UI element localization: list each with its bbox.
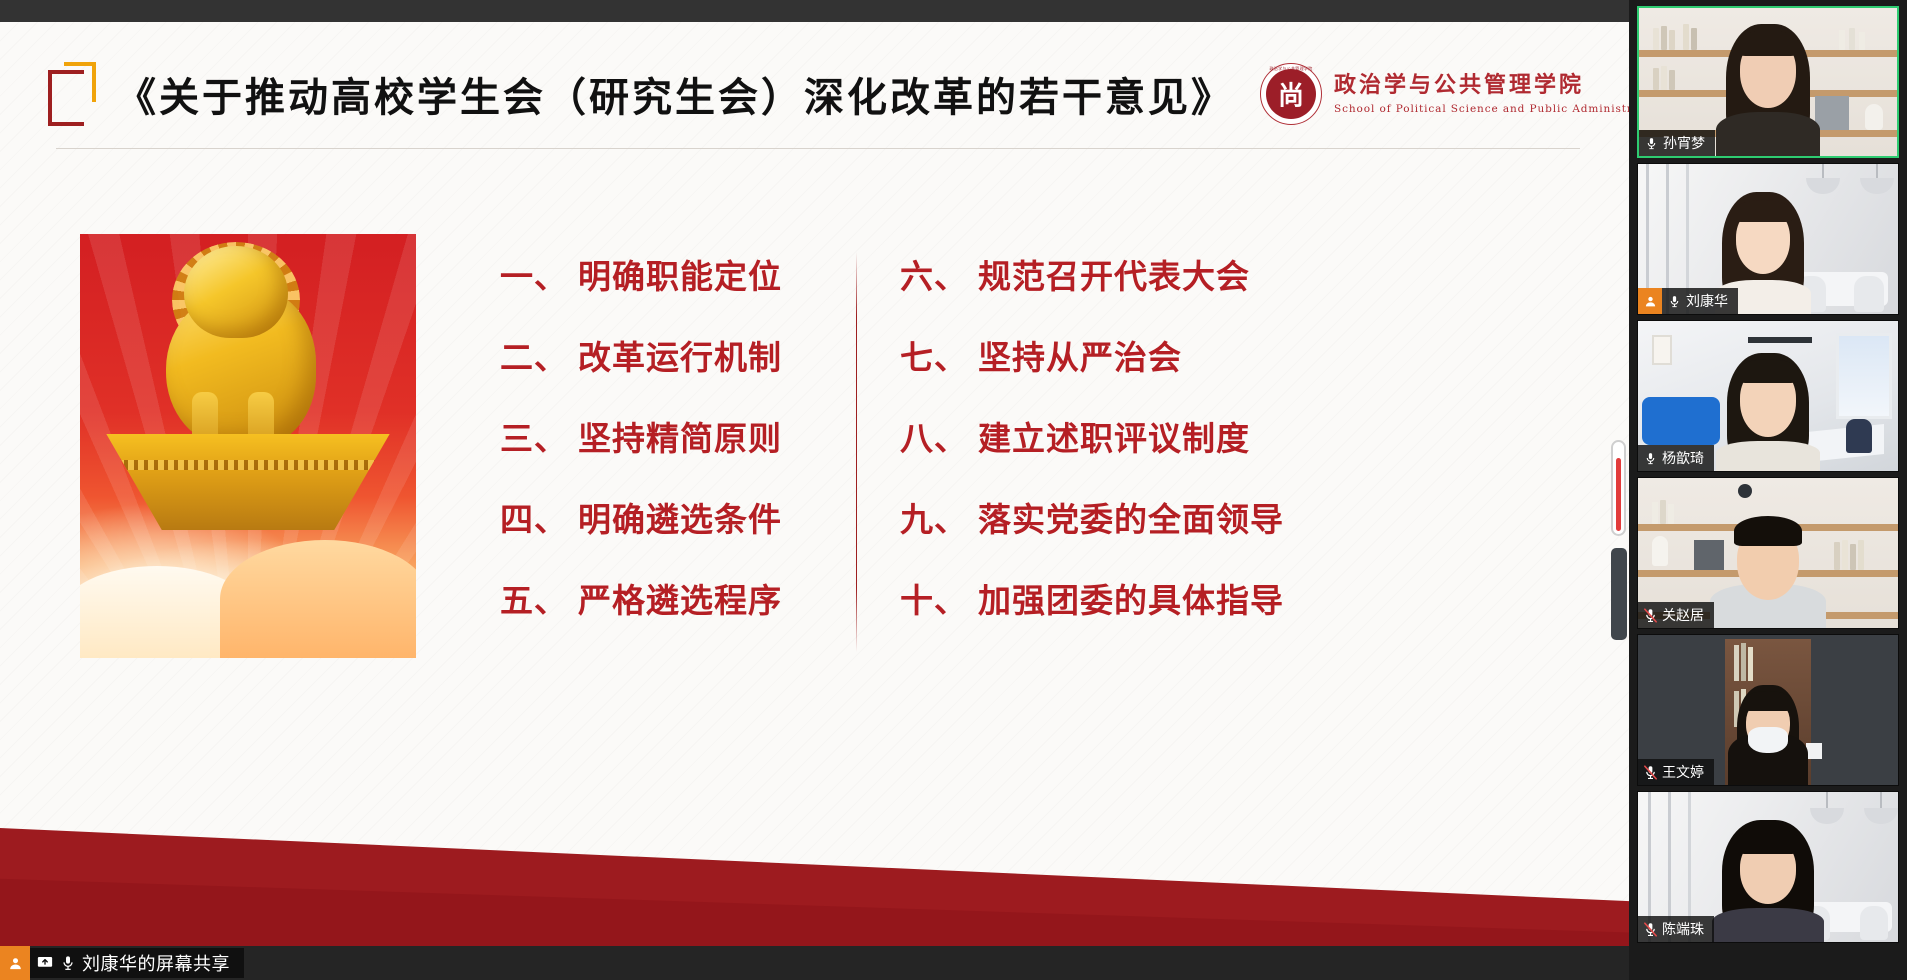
outline-item: 一、 明确职能定位 (500, 236, 830, 317)
participant-tile[interactable]: 杨歆琦 (1637, 320, 1899, 472)
outline-item-text: 明确遴选条件 (578, 479, 782, 560)
person-icon (1638, 288, 1662, 314)
outline-item: 十、 加强团委的具体指导 (900, 560, 1320, 641)
outline-item-number: 四、 (500, 479, 568, 560)
organization-name-en: School of Political Science and Public A… (1334, 103, 1629, 116)
outline-item: 七、 坚持从严治会 (900, 317, 1320, 398)
outline-item-number: 二、 (500, 317, 568, 398)
microphone-icon (60, 954, 76, 972)
shared-screen-area: 《关于推动高校学生会（研究生会）深化改革的若干意见》 政治学与公共管理学院 尚 … (0, 0, 1629, 980)
outline-item-text: 落实党委的全面领导 (978, 479, 1284, 560)
bracket-ornament-icon (48, 62, 100, 126)
share-status-text: 刘康华的屏幕共享 (82, 950, 230, 976)
outline-item-number: 九、 (900, 479, 968, 560)
outline-item-text: 改革运行机制 (578, 317, 782, 398)
participant-name-bar: 刘康华 (1638, 288, 1738, 314)
participant-tile[interactable]: 刘康华 (1637, 163, 1899, 315)
participant-name: 陈端珠 (1662, 919, 1714, 939)
participant-name: 杨歆琦 (1662, 448, 1714, 468)
outline-item-number: 五、 (500, 560, 568, 641)
participant-name-bar: 孙宵梦 (1639, 130, 1715, 156)
outline-item-text: 加强团委的具体指导 (978, 560, 1284, 641)
title-divider (56, 148, 1580, 149)
outline-item: 二、 改革运行机制 (500, 317, 830, 398)
outline-item-number: 六、 (900, 236, 968, 317)
participant-tile[interactable]: 关赵居 (1637, 477, 1899, 629)
outline-column-right: 六、 规范召开代表大会 七、 坚持从严治会 八、 建立述职评议制度 九、 落实党… (900, 236, 1320, 641)
participant-tile[interactable]: 陈端珠 (1637, 791, 1899, 943)
microphone-muted-icon (1638, 759, 1662, 785)
audio-meter-strip (1611, 440, 1629, 640)
outline-item: 九、 落实党委的全面领导 (900, 479, 1320, 560)
participant-name: 刘康华 (1686, 291, 1738, 311)
participant-name-bar: 陈端珠 (1638, 916, 1714, 942)
outline-column-left: 一、 明确职能定位 二、 改革运行机制 三、 坚持精简原则 四、 明确遴选条件 … (500, 236, 830, 641)
microphone-icon (1639, 130, 1663, 156)
outline-item-number: 三、 (500, 398, 568, 479)
outline-item-number: 十、 (900, 560, 968, 641)
outline-column-divider (856, 252, 857, 652)
school-seal-icon: 政治学与公共管理学院 尚 (1260, 63, 1322, 125)
participant-name: 孙宵梦 (1663, 133, 1715, 153)
participant-video-strip[interactable]: 孙宵梦 (1629, 0, 1907, 980)
volume-level-meter (1611, 548, 1627, 640)
participant-tile[interactable]: 孙宵梦 (1637, 6, 1899, 158)
share-top-bar (0, 0, 1629, 22)
outline-item-text: 规范召开代表大会 (978, 236, 1250, 317)
outline-item-text: 明确职能定位 (578, 236, 782, 317)
organization-names: 政治学与公共管理学院 School of Political Science a… (1334, 72, 1629, 116)
mic-level-indicator (1611, 440, 1626, 536)
person-icon (0, 946, 30, 980)
outline-item: 四、 明确遴选条件 (500, 479, 830, 560)
outline-item: 五、 严格遴选程序 (500, 560, 830, 641)
screen-share-icon (36, 954, 54, 972)
outline-item-text: 严格遴选程序 (578, 560, 782, 641)
slide-header: 《关于推动高校学生会（研究生会）深化改革的若干意见》 政治学与公共管理学院 尚 … (48, 50, 1590, 138)
presentation-slide: 《关于推动高校学生会（研究生会）深化改革的若干意见》 政治学与公共管理学院 尚 … (0, 22, 1629, 946)
microphone-icon (1662, 288, 1686, 314)
screen-share-status-bar: 刘康华的屏幕共享 (0, 946, 1629, 980)
seal-glyph: 尚 (1278, 76, 1304, 113)
zoom-meeting-window: 《关于推动高校学生会（研究生会）深化改革的若干意见》 政治学与公共管理学院 尚 … (0, 0, 1907, 980)
participant-tile[interactable]: 王文婷 (1637, 634, 1899, 786)
participant-name-bar: 王文婷 (1638, 759, 1714, 785)
organization-branding: 政治学与公共管理学院 尚 政治学与公共管理学院 School of Politi… (1260, 63, 1629, 125)
outline-item-text: 坚持精简原则 (578, 398, 782, 479)
outline-item: 六、 规范召开代表大会 (900, 236, 1320, 317)
microphone-icon (1638, 445, 1662, 471)
share-status-pill: 刘康华的屏幕共享 (30, 948, 244, 978)
outline-item: 三、 坚持精简原则 (500, 398, 830, 479)
slide-title: 《关于推动高校学生会（研究生会）深化改革的若干意见》 (116, 65, 1234, 123)
organization-name-cn: 政治学与公共管理学院 (1334, 72, 1629, 100)
outline-item-text: 建立述职评议制度 (978, 398, 1250, 479)
microphone-muted-icon (1638, 916, 1662, 942)
participant-name-bar: 关赵居 (1638, 602, 1714, 628)
outline-item-number: 七、 (900, 317, 968, 398)
outline-item-number: 一、 (500, 236, 568, 317)
outline-item-text: 坚持从严治会 (978, 317, 1182, 398)
outline-item: 八、 建立述职评议制度 (900, 398, 1320, 479)
participant-name-bar: 杨歆琦 (1638, 445, 1714, 471)
lion-statue-image (80, 234, 416, 658)
participant-name: 关赵居 (1662, 605, 1714, 625)
participant-name: 王文婷 (1662, 762, 1714, 782)
microphone-muted-icon (1638, 602, 1662, 628)
outline-item-number: 八、 (900, 398, 968, 479)
